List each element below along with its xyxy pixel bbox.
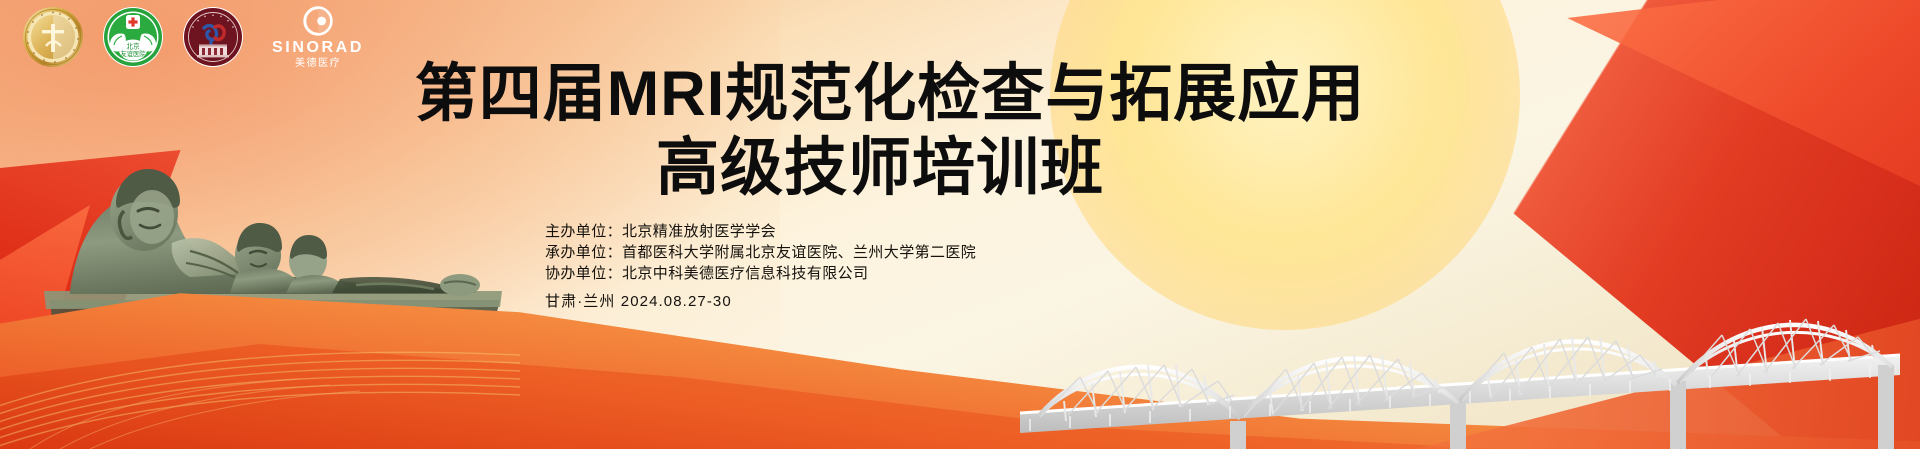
- banner-title-block: 第四届MRI规范化检查与拓展应用 高级技师培训班: [0, 62, 1920, 201]
- stone-carving-illustration: [40, 95, 510, 355]
- co-organizer-line: 协办单位：北京中科美德医疗信息科技有限公司: [545, 263, 976, 284]
- beijing-friendship-hospital-logo: 北京 友谊医院: [102, 6, 164, 68]
- location-date-line: 甘肃·兰州 2024.08.27-30: [545, 291, 976, 312]
- svg-text:北京: 北京: [126, 41, 140, 50]
- red-ribbon-right-decoration: [1360, 0, 1920, 449]
- title-line-1: 第四届MRI规范化检查与拓展应用: [0, 62, 1920, 126]
- sinorad-logo: SINORAD 美德医疗: [264, 6, 372, 68]
- svg-text:友谊医院: 友谊医院: [120, 49, 146, 58]
- organizer-logos: 北京 友谊医院: [22, 6, 372, 68]
- red-ribbon-left-decoration: [0, 150, 430, 449]
- red-ribbon-right-upper-decoration: [1500, 0, 1920, 300]
- sinorad-circle-icon: [303, 6, 333, 36]
- orange-wave-inner-decoration: [0, 299, 1500, 449]
- conference-banner: 北京 友谊医院: [0, 0, 1920, 449]
- host-line: 承办单位：首都医科大学附属北京友谊医院、兰州大学第二医院: [545, 242, 976, 263]
- orange-ribbon-bottom-right-decoration: [1220, 239, 1920, 449]
- sinorad-mark: [303, 6, 333, 36]
- title-line-2: 高级技师培训班: [0, 136, 1920, 200]
- zhongshan-bridge-illustration: [1020, 169, 1900, 449]
- sinorad-wordmark: SINORAD: [272, 40, 364, 56]
- beijing-precision-radiology-society-logo: [22, 6, 84, 68]
- sun-glow-decoration: [1050, 0, 1520, 330]
- sun-core-decoration: [1105, 0, 1465, 265]
- organizer-line: 主办单位：北京精准放射医学学会: [545, 221, 976, 242]
- lanzhou-university-second-hospital-logo: [182, 6, 244, 68]
- sinorad-subtitle: 美德医疗: [295, 59, 341, 69]
- event-info-block: 主办单位：北京精准放射医学学会 承办单位：首都医科大学附属北京友谊医院、兰州大学…: [545, 221, 976, 312]
- red-ribbon-left-inner-decoration: [0, 205, 300, 449]
